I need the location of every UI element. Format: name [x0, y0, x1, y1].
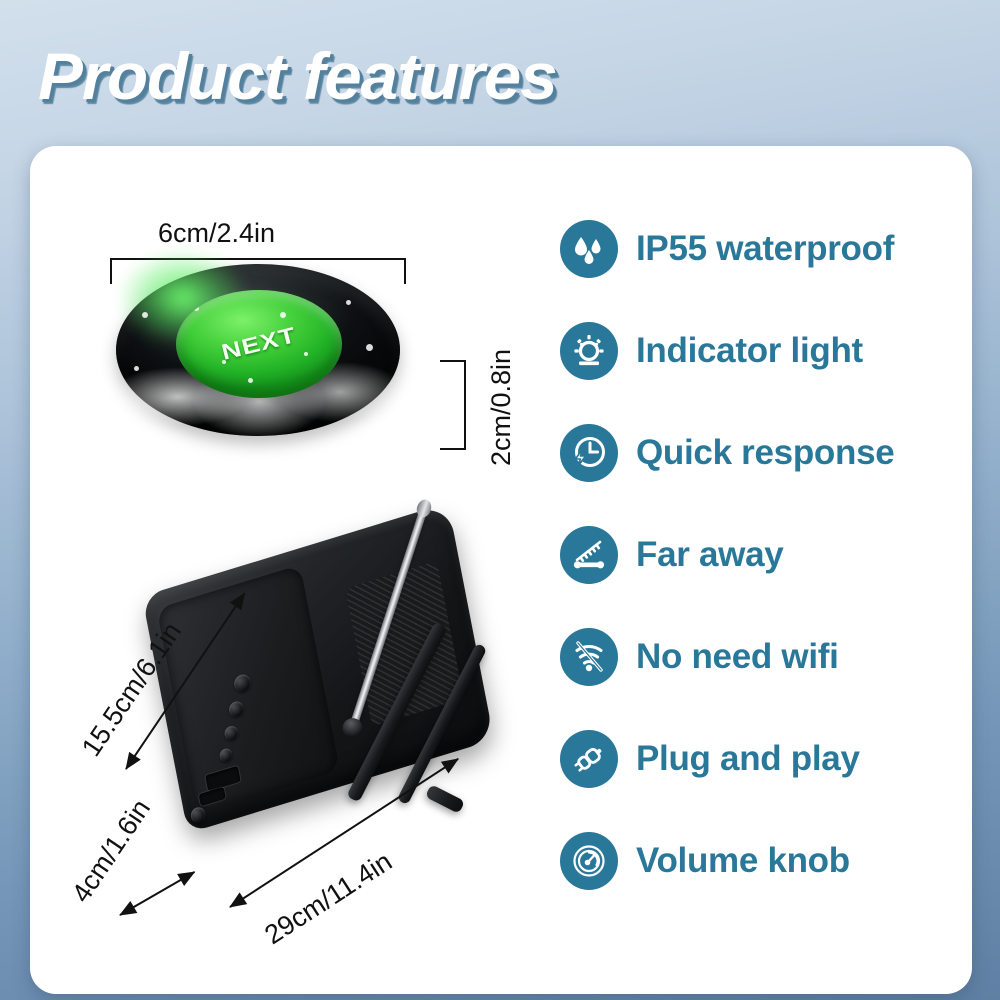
feature-item-plug-and-play[interactable]: Plug and play — [560, 708, 960, 810]
water-drops-icon — [560, 220, 618, 278]
feature-item-waterproof[interactable]: IP55 waterproof — [560, 198, 960, 300]
feature-item-indicator-light[interactable]: Indicator light — [560, 300, 960, 402]
kickstand-foot — [425, 784, 465, 814]
call-button-photo: 6cm/2.4in NEXT 2cm/0.8in — [98, 216, 418, 456]
button-height-bracket — [440, 360, 466, 450]
wifi-slash-icon — [560, 628, 618, 686]
feature-label: Indicator light — [636, 331, 863, 371]
receiver-depth-arrow — [120, 871, 195, 916]
clock-bolt-icon — [560, 424, 618, 482]
receiver-width-label: 29cm/11.4in — [259, 846, 398, 951]
plug-socket-icon — [560, 730, 618, 788]
receiver-back-panel — [157, 565, 340, 814]
ruler-antenna-icon — [560, 526, 618, 584]
feature-item-quick-response[interactable]: Quick response — [560, 402, 960, 504]
feature-label: IP55 waterproof — [636, 229, 894, 269]
feature-item-volume-knob[interactable]: Volume knob — [560, 810, 960, 912]
feature-item-no-wifi[interactable]: No need wifi — [560, 606, 960, 708]
infographic-canvas: Product features 6cm/2.4in NEXT — [0, 0, 1000, 1000]
button-height-label: 2cm/0.8in — [486, 349, 517, 466]
button-width-label: 6cm/2.4in — [158, 218, 275, 249]
feature-label: Volume knob — [636, 841, 850, 881]
feature-label: Quick response — [636, 433, 894, 473]
receiver-photo: 15.5cm/6.1in 4cm/1.6in 29cm/11.4in — [90, 506, 560, 936]
button-cap[interactable]: NEXT — [176, 290, 342, 398]
feature-item-far-away[interactable]: Far away — [560, 504, 960, 606]
feature-label: No need wifi — [636, 637, 839, 677]
indicator-light-icon — [560, 322, 618, 380]
page-title: Product features — [38, 38, 557, 114]
button-cap-label: NEXT — [219, 322, 299, 365]
feature-list: IP55 waterproof — [560, 198, 960, 912]
feature-label: Far away — [636, 535, 783, 575]
feature-label: Plug and play — [636, 739, 860, 779]
receiver-depth-label: 4cm/1.6in — [66, 794, 157, 908]
content-card: 6cm/2.4in NEXT 2cm/0.8in — [30, 146, 972, 994]
dial-knob-icon — [560, 832, 618, 890]
